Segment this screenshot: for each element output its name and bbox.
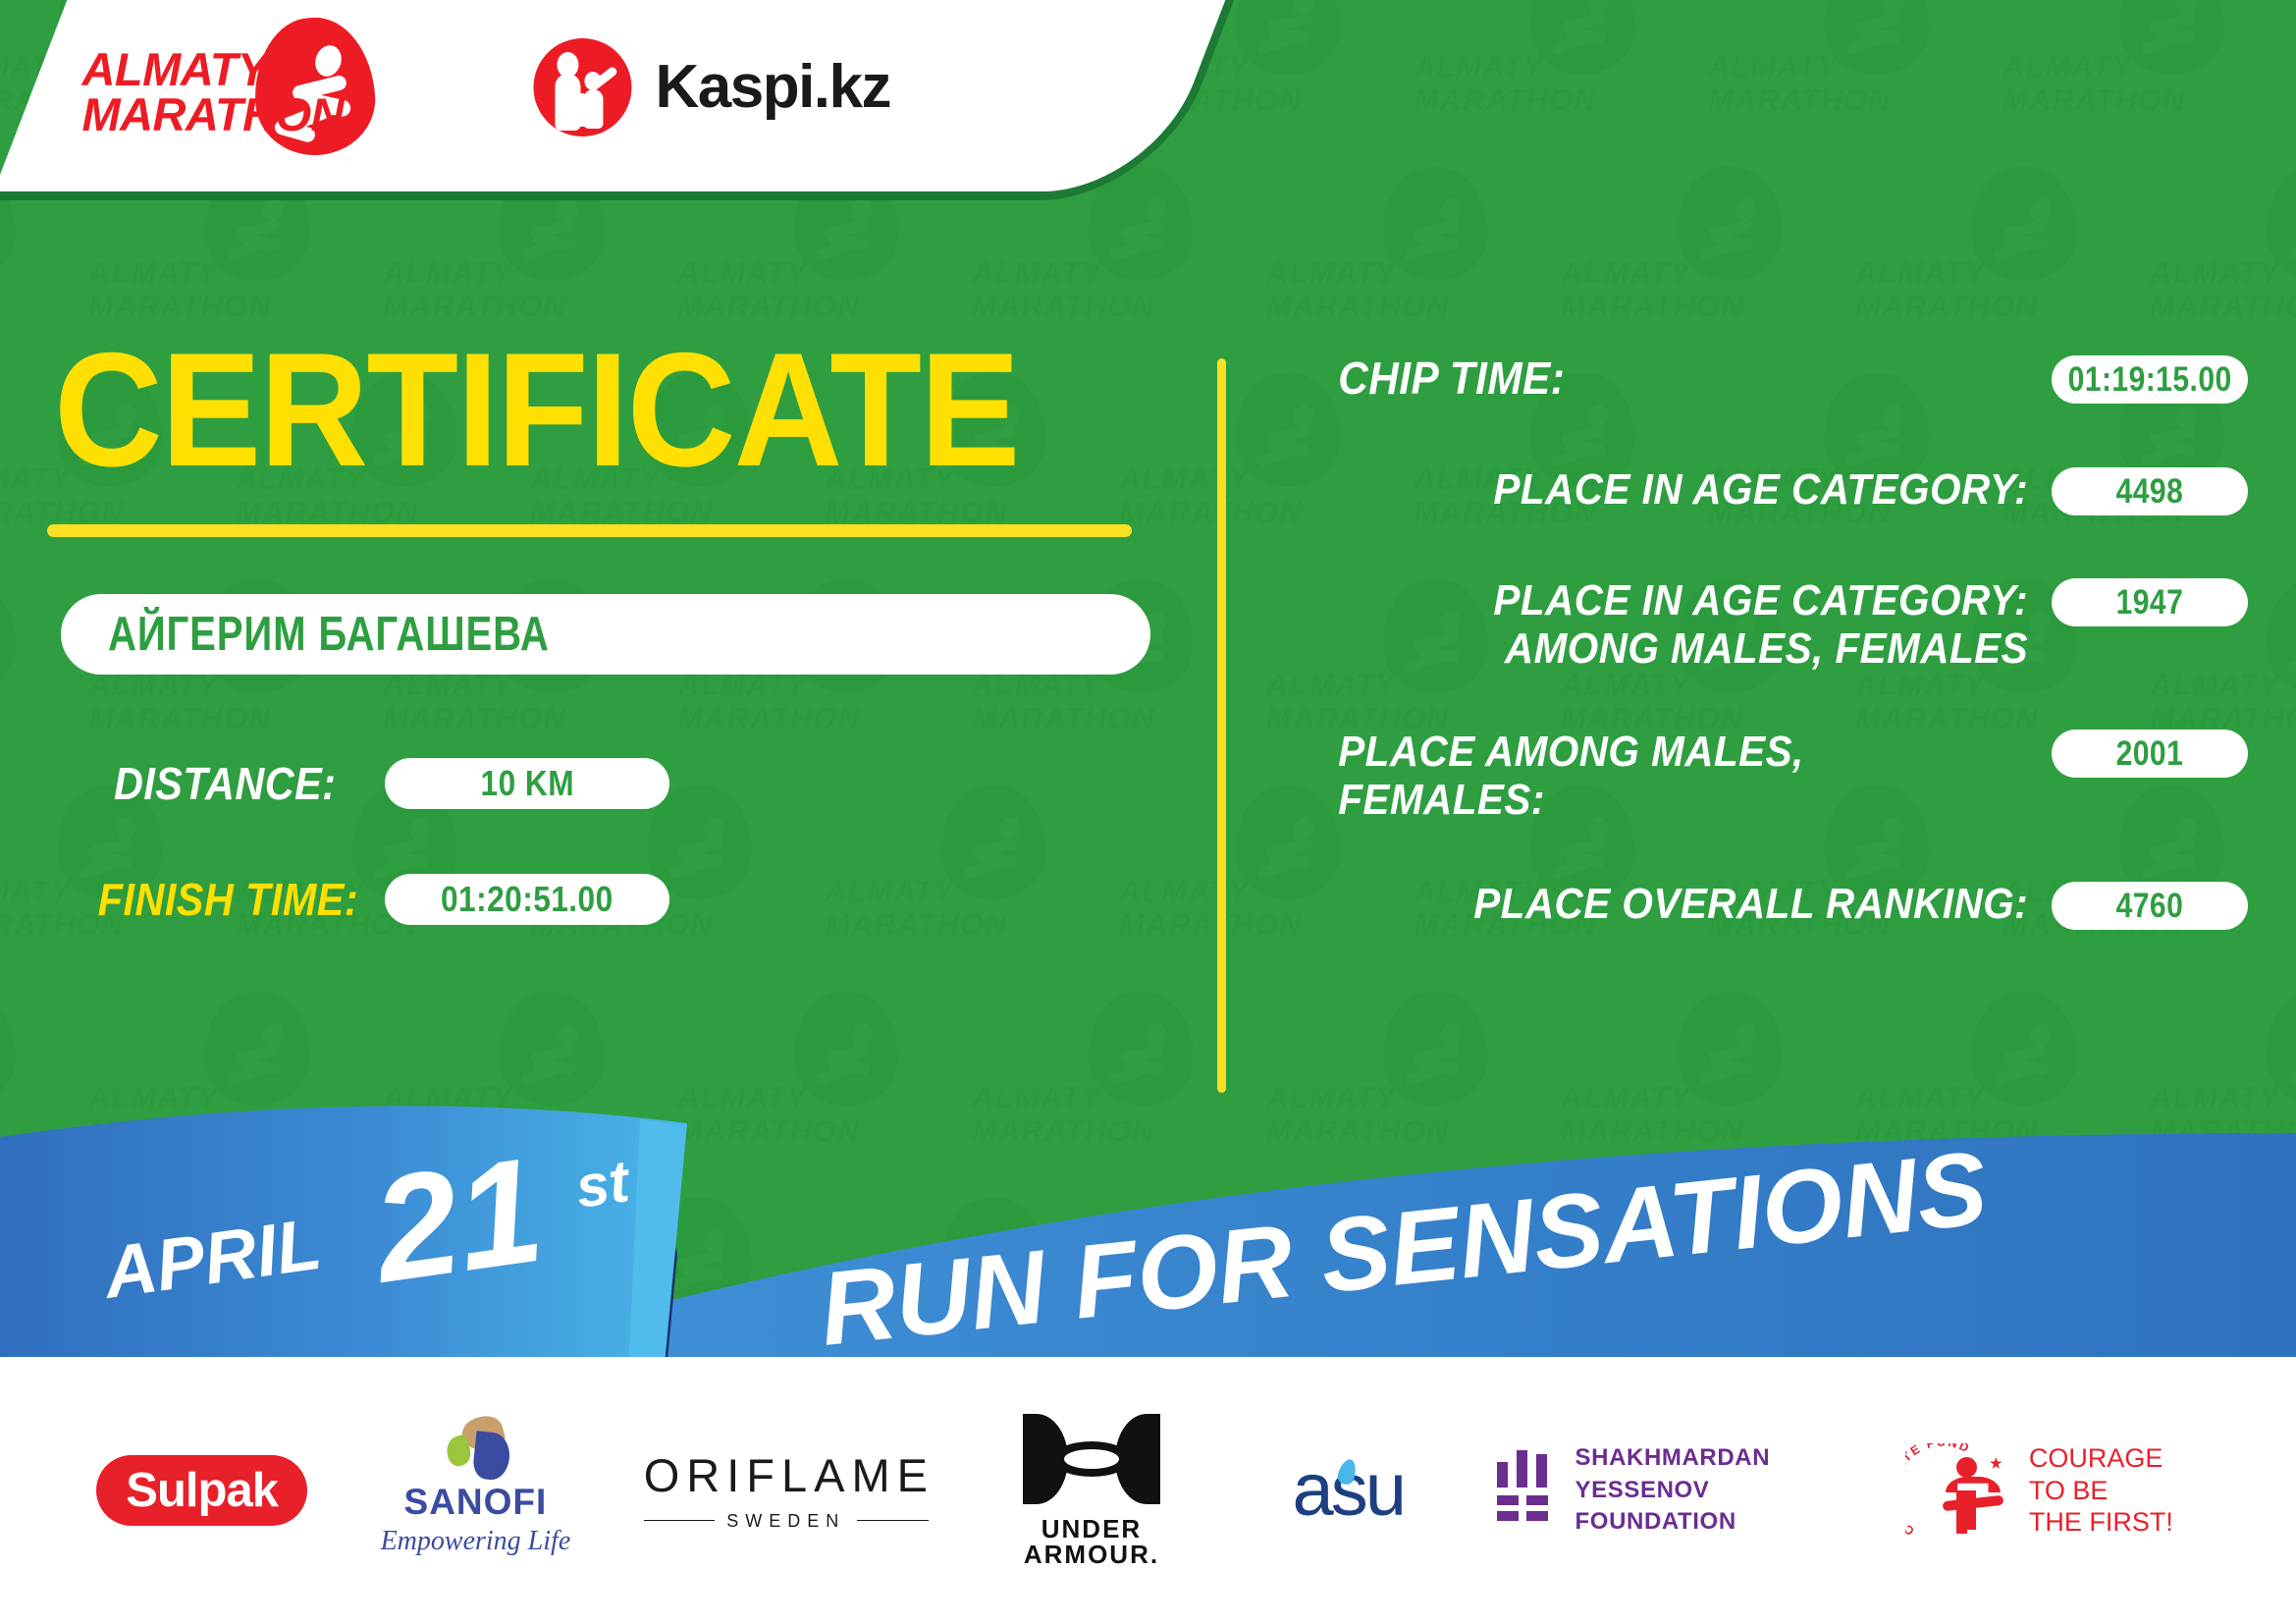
almaty-marathon-wordmark: ALMATY MARATHON (81, 47, 344, 137)
page-title: CERTIFICATE (54, 339, 1136, 481)
place-age-category-gender-row: PLACE IN AGE CATEGORY: AMONG MALES, FEMA… (1276, 576, 2248, 674)
participant-name: АЙГЕРИМ БАГАШЕВА (108, 611, 550, 659)
place-age-category-label: PLACE IN AGE CATEGORY: (1338, 465, 2052, 514)
label-line-1: PLACE IN AGE CATEGORY: (1338, 576, 2028, 624)
kaspi-wordmark: Kaspi.kz (655, 57, 890, 118)
distance-row: DISTANCE: 10 KM (61, 758, 1217, 809)
courage-line-1: COURAGE (2029, 1442, 2173, 1475)
place-overall-label: PLACE OVERALL RANKING: (1338, 880, 2052, 928)
distance-label: DISTANCE: (61, 761, 352, 806)
yessenov-foundation-logo: SHAKHMARDAN YESSENOV FOUNDATION (1497, 1442, 1850, 1538)
participant-name-pill: АЙГЕРИМ БАГАШЕВА (61, 594, 1150, 675)
watermark-tile: ALMATYMARATHON (2002, 0, 2296, 167)
watermark-tile: ALMATYMARATHON (1855, 167, 2150, 373)
chip-time-label: CHIP TIME: (1338, 353, 2052, 405)
watermark-tile: ALMATYMARATHON (1708, 0, 2002, 167)
sponsor-sulpak: Sulpak (96, 1455, 307, 1526)
place-among-gender-value: 2001 (2116, 736, 2184, 771)
certificate-canvas: ALMATYMARATHONALMATYMARATHONALMATYMARATH… (0, 0, 2296, 1624)
place-among-gender-label: PLACE AMONG MALES, FEMALES: (1338, 728, 2052, 825)
place-overall-row: PLACE OVERALL RANKING: 4760 (1276, 880, 2248, 930)
sanofi-wordmark: SANOFI (362, 1484, 588, 1520)
distance-value: 10 KM (480, 766, 574, 801)
sponsor-under-armour: UNDER ARMOUR. (984, 1414, 1200, 1567)
sanofi-tagline: Empowering Life (362, 1528, 588, 1555)
courage-mark-icon: CORPORATE FUND (1905, 1437, 2011, 1543)
sponsor-courage: CORPORATE FUND COURAGE TO BE THE FIRST! (1905, 1437, 2200, 1543)
place-age-category-gender-label: PLACE IN AGE CATEGORY: AMONG MALES, FEMA… (1338, 576, 2052, 674)
watermark-tile: ALMATYMARATHON (1266, 167, 1561, 373)
watermark-tile: ALMATYMARATHON (1414, 0, 1708, 167)
svg-text:21: 21 (361, 1126, 552, 1315)
yessenov-line-2: FOUNDATION (1575, 1506, 1850, 1538)
oriflame-wordmark: ORIFLAME (644, 1452, 929, 1498)
stats-column: CHIP TIME: 01:19:15.00 PLACE IN AGE CATE… (1276, 353, 2248, 940)
event-ribbon: APRIL 21 st RUN FOR SENSATIONS (0, 1080, 2296, 1404)
sponsor-yessenov: SHAKHMARDAN YESSENOV FOUNDATION (1497, 1442, 1850, 1538)
almaty-marathon-logo: ALMATY MARATHON (81, 24, 386, 151)
courage-corporate-fund-logo: CORPORATE FUND COURAGE TO BE THE FIRST! (1905, 1437, 2200, 1543)
title-divider (47, 524, 1132, 537)
label-line-2: FEMALES: (1338, 776, 2028, 824)
place-overall-value-pill: 4760 (2052, 882, 2248, 930)
header-panel: ALMATY MARATHON Kaspi.kz (0, 0, 1238, 200)
sponsor-asu: asu (1255, 1453, 1441, 1528)
oriflame-sweden: SWEDEN (726, 1512, 845, 1530)
vertical-divider (1217, 358, 1226, 1093)
chip-time-row: CHIP TIME: 01:19:15.00 (1276, 353, 2248, 405)
sulpak-logo: Sulpak (96, 1455, 307, 1526)
place-age-category-gender-value: 1947 (2116, 585, 2184, 620)
courage-runner-icon (1941, 1451, 2009, 1534)
courage-wordmark: COURAGE TO BE THE FIRST! (2029, 1442, 2173, 1540)
oriflame-logo: ORIFLAME SWEDEN (644, 1452, 929, 1530)
watermark-tile: ALMATYMARATHON (2150, 167, 2296, 373)
place-age-category-value: 4498 (2116, 474, 2184, 509)
chip-time-value: 01:19:15.00 (2067, 362, 2231, 397)
finish-time-row: FINISH TIME: 01:20:51.00 (61, 874, 1217, 925)
sanofi-mark-icon (439, 1417, 511, 1478)
place-age-category-gender-value-pill: 1947 (2052, 578, 2248, 626)
distance-value-pill: 10 KM (385, 758, 669, 809)
place-age-category-row: PLACE IN AGE CATEGORY: 4498 (1276, 465, 2248, 515)
finish-time-label: FINISH TIME: (61, 877, 352, 922)
finish-time-value-pill: 01:20:51.00 (385, 874, 669, 925)
watermark-tile: ALMATYMARATHON (1561, 167, 1855, 373)
place-among-gender-row: PLACE AMONG MALES, FEMALES: 2001 (1276, 728, 2248, 825)
under-armour-wordmark: UNDER ARMOUR. (984, 1516, 1200, 1567)
finish-time-value: 01:20:51.00 (441, 882, 614, 917)
place-overall-value: 4760 (2116, 889, 2184, 923)
yessenov-bars-icon (1497, 1450, 1550, 1531)
yessenov-wordmark: SHAKHMARDAN YESSENOV FOUNDATION (1575, 1442, 1850, 1538)
place-age-category-value-pill: 4498 (2052, 467, 2248, 515)
courage-line-2: TO BE (2029, 1475, 2173, 1507)
under-armour-logo: UNDER ARMOUR. (984, 1414, 1200, 1567)
oriflame-sub: SWEDEN (644, 1512, 929, 1530)
courage-line-3: THE FIRST! (2029, 1506, 2173, 1539)
under-armour-mark-icon (1023, 1414, 1160, 1504)
sanofi-logo: SANOFI Empowering Life (362, 1417, 588, 1564)
sponsor-sanofi: SANOFI Empowering Life (362, 1417, 588, 1564)
label-line-1: PLACE AMONG MALES, (1338, 728, 2028, 776)
sponsor-oriflame: ORIFLAME SWEDEN (644, 1452, 929, 1530)
left-column: CERTIFICATE АЙГЕРИМ БАГАШЕВА DISTANCE: 1… (0, 206, 1217, 925)
label-line-2: AMONG MALES, FEMALES (1338, 624, 2028, 673)
kaspi-logo: Kaspi.kz (533, 38, 890, 136)
sponsor-bar: Sulpak SANOFI Empowering Life ORIFLAME S… (0, 1357, 2296, 1624)
kaspi-people-circle-icon (533, 38, 631, 136)
marathon-line: MARATHON (81, 92, 344, 137)
place-among-gender-value-pill: 2001 (2052, 730, 2248, 778)
chip-time-value-pill: 01:19:15.00 (2052, 355, 2248, 404)
almaty-line: ALMATY (81, 47, 344, 92)
asu-logo: asu (1255, 1453, 1441, 1528)
yessenov-line-1: SHAKHMARDAN YESSENOV (1575, 1442, 1850, 1506)
